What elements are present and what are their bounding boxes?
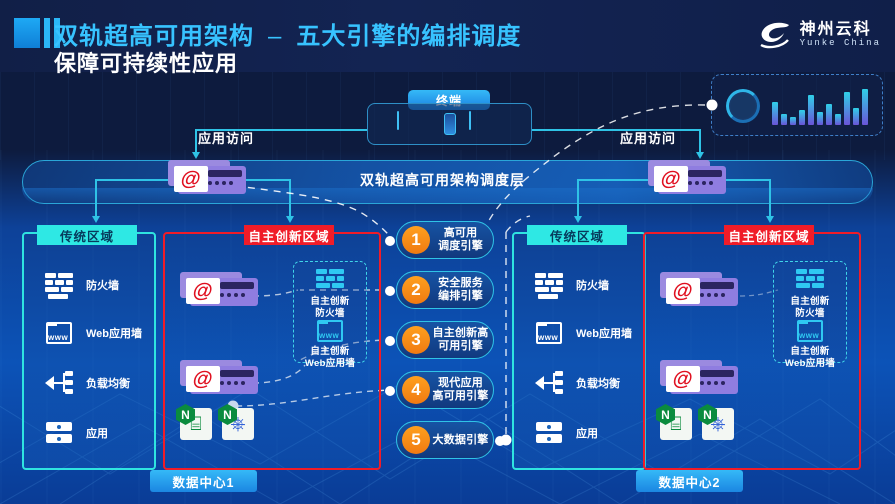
- service-loadbalancer-dc2[interactable]: 负载均衡: [535, 370, 620, 396]
- engine-label-line2: 调度引擎: [438, 240, 483, 252]
- kubernetes-badge-icon[interactable]: ⎈N: [698, 404, 734, 440]
- inner-label-line2: Web应用墙: [305, 358, 355, 369]
- firewall-icon: [45, 272, 73, 298]
- engine-label-line1: 自主创新高: [433, 327, 489, 339]
- brand-name-en: Yunke China: [800, 38, 881, 48]
- chart-bar: [862, 89, 868, 125]
- vendor-logo-icon: @: [666, 366, 700, 392]
- zone-tag-traditional-dc1: 传统区域: [37, 225, 137, 245]
- inner-service-firewall-dc1[interactable]: 自主创新防火墙: [294, 268, 366, 320]
- datacenter-label-1: 数据中心1: [150, 470, 257, 492]
- service-firewall-dc2[interactable]: 防火墙: [535, 272, 609, 298]
- vendor-logo-icon: @: [666, 278, 700, 304]
- service-label: 负载均衡: [576, 375, 620, 391]
- engine-pill-4[interactable]: 4 现代应用高可用引擎: [396, 371, 494, 409]
- slide-canvas: 双轨超高可用架构–五大引擎的编排调度 保障可持续性应用 神州云科 Yunke C…: [0, 0, 895, 504]
- waf-icon: www: [535, 320, 563, 346]
- access-label-left: 应用访问: [198, 128, 254, 147]
- innovation-inner-box-dc1: 自主创新防火墙 www 自主创新Web应用墙: [293, 261, 367, 363]
- service-loadbalancer-dc1[interactable]: 负载均衡: [45, 370, 130, 396]
- chart-bar: [772, 102, 778, 125]
- server-stack-dc1-a[interactable]: @: [180, 272, 258, 306]
- zone-tag-innovation-dc1: 自主创新区域: [244, 225, 334, 245]
- zone-tag-traditional-dc2: 传统区域: [527, 225, 627, 245]
- nginx-badge-icon[interactable]: ⌸N: [176, 404, 212, 440]
- chart-bar: [781, 114, 787, 125]
- title-dash: –: [254, 23, 296, 50]
- kubernetes-badge-icon[interactable]: ⎈N: [218, 404, 254, 440]
- chart-bar: [817, 112, 823, 125]
- chart-bar: [844, 92, 850, 125]
- firewall-icon: [535, 272, 563, 298]
- engine-label-line2: 编排引擎: [438, 290, 483, 302]
- service-label: 防火墙: [576, 277, 609, 293]
- engine-pill-2[interactable]: 2 安全服务编排引擎: [396, 271, 494, 309]
- server-stack-dc2-a[interactable]: @: [660, 272, 738, 306]
- engine-number: 4: [402, 376, 430, 404]
- nginx-badge-icon[interactable]: ⌸N: [656, 404, 692, 440]
- engine-label-line2: 可用引擎: [438, 340, 483, 352]
- engine-label-line1: 高可用: [444, 227, 478, 239]
- service-label: 应用: [576, 425, 598, 441]
- load-balancer-icon: [45, 370, 73, 396]
- engine-label-line1: 大数据引擎: [433, 434, 489, 446]
- service-label: 防火墙: [86, 277, 119, 293]
- engine-pill-3[interactable]: 3 自主创新高可用引擎: [396, 321, 494, 359]
- engine-label-line1: 现代应用: [438, 377, 483, 389]
- phone-icon: [444, 113, 456, 135]
- donut-chart-icon: [726, 89, 760, 123]
- engine-pill-5[interactable]: 5 大数据引擎: [396, 421, 494, 459]
- service-label: Web应用墙: [576, 325, 632, 341]
- vendor-logo-icon: @: [654, 166, 688, 192]
- connector-dot: [385, 336, 395, 346]
- waf-icon: www: [796, 318, 824, 344]
- brand-name-cn: 神州云科: [800, 22, 881, 39]
- server-stack-dc1-b[interactable]: @: [180, 360, 258, 394]
- monitoring-chart-box: [711, 74, 883, 136]
- laptop-icon: [397, 112, 431, 136]
- bar-chart-icon: [772, 87, 872, 125]
- access-label-right: 应用访问: [620, 128, 676, 147]
- engine-number: 2: [402, 276, 430, 304]
- page-title-line2: 保障可持续性应用: [54, 46, 238, 78]
- connector-dot: [385, 386, 395, 396]
- waf-icon: www: [45, 320, 73, 346]
- chart-bar: [835, 114, 841, 125]
- inner-service-waf-dc1[interactable]: www 自主创新Web应用墙: [294, 318, 366, 370]
- inner-label-line2: Web应用墙: [785, 358, 835, 369]
- application-server-icon: [535, 420, 563, 446]
- engine-number: 3: [402, 326, 430, 354]
- zone-tag-innovation-dc2: 自主创新区域: [724, 225, 814, 245]
- inner-label-line1: 自主创新: [790, 346, 829, 357]
- service-waf-dc2[interactable]: www Web应用墙: [535, 320, 632, 346]
- chart-bar: [790, 117, 796, 125]
- inner-label-line1: 自主创新: [310, 346, 349, 357]
- engine-number: 1: [402, 226, 430, 254]
- vendor-logo-icon: @: [186, 366, 220, 392]
- connector-dot: [385, 286, 395, 296]
- connector-dot: [385, 236, 395, 246]
- engine-pill-1[interactable]: 1 高可用调度引擎: [396, 221, 494, 259]
- vendor-logo-icon: @: [174, 166, 208, 192]
- innovation-inner-box-dc2: 自主创新防火墙 www 自主创新Web应用墙: [773, 261, 847, 363]
- inner-service-waf-dc2[interactable]: www 自主创新Web应用墙: [774, 318, 846, 370]
- service-label: 应用: [86, 425, 108, 441]
- inner-label-line1: 自主创新: [790, 296, 829, 307]
- connector-dot: [495, 436, 505, 446]
- engine-label-line1: 安全服务: [438, 277, 483, 289]
- waf-icon: www: [316, 318, 344, 344]
- brand-logo: 神州云科 Yunke China: [758, 20, 881, 50]
- service-application-dc1[interactable]: 应用: [45, 420, 108, 446]
- firewall-icon: [316, 268, 344, 294]
- application-server-icon: [45, 420, 73, 446]
- vendor-logo-icon: @: [186, 278, 220, 304]
- server-stack-dc1-primary[interactable]: @: [168, 160, 246, 194]
- service-firewall-dc1[interactable]: 防火墙: [45, 272, 119, 298]
- service-waf-dc1[interactable]: www Web应用墙: [45, 320, 142, 346]
- swirl-logo-icon: [758, 20, 792, 50]
- terminal-group: [367, 103, 532, 145]
- chart-bar: [808, 95, 814, 125]
- inner-service-firewall-dc2[interactable]: 自主创新防火墙: [774, 268, 846, 320]
- engine-label-line2: 高可用引擎: [433, 390, 489, 402]
- page-title-sub: 五大引擎的编排调度: [296, 23, 521, 50]
- load-balancer-icon: [535, 370, 563, 396]
- service-application-dc2[interactable]: 应用: [535, 420, 598, 446]
- firewall-icon: [796, 268, 824, 294]
- chart-bar: [799, 110, 805, 125]
- inner-label-line1: 自主创新: [310, 296, 349, 307]
- server-stack-dc2-primary[interactable]: @: [648, 160, 726, 194]
- laptop-icon: [469, 112, 503, 136]
- chart-bar: [853, 108, 859, 125]
- scheduling-layer-label: 双轨超高可用架构调度层: [360, 170, 525, 190]
- brand-text: 神州云科 Yunke China: [800, 22, 881, 49]
- datacenter-label-2: 数据中心2: [636, 470, 743, 492]
- engine-number: 5: [402, 426, 430, 454]
- chart-bar: [826, 104, 832, 125]
- service-label: 负载均衡: [86, 375, 130, 391]
- server-stack-dc2-b[interactable]: @: [660, 360, 738, 394]
- service-label: Web应用墙: [86, 325, 142, 341]
